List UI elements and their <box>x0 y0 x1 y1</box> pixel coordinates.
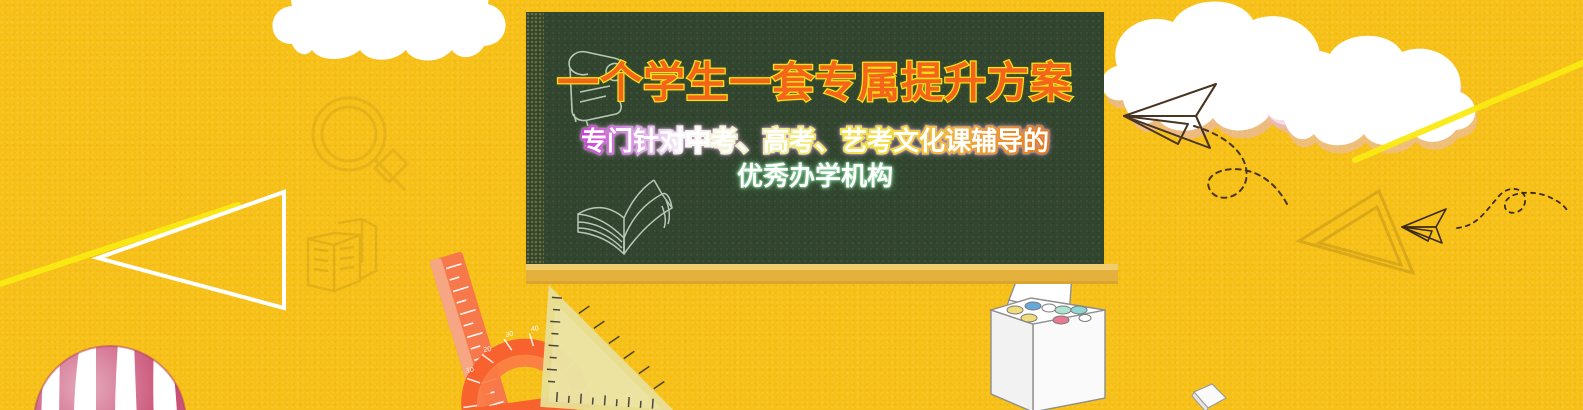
blackboard-chalk-edge <box>526 12 544 264</box>
books-icon <box>300 215 380 295</box>
dashed-trail <box>1192 112 1312 210</box>
striped-ball <box>30 342 190 410</box>
dashed-trail <box>1455 182 1570 252</box>
cloud-icon <box>262 0 518 98</box>
svg-text:20: 20 <box>483 346 492 354</box>
svg-text:30: 30 <box>505 331 514 339</box>
magnifier-icon <box>305 90 410 195</box>
triangle-outline-icon <box>88 180 308 320</box>
svg-text:10: 10 <box>466 367 475 375</box>
promo-banner: 1020 3040 50 <box>0 0 1583 410</box>
open-book-chalk-drawing <box>566 166 684 258</box>
svg-text:40: 40 <box>531 325 540 333</box>
paper-plane-icon <box>1400 205 1460 247</box>
blackboard-ledge <box>526 264 1118 284</box>
chalk-stick <box>1190 382 1230 410</box>
yellow-streak <box>1355 58 1583 168</box>
notebook-chalk-drawing <box>556 44 632 128</box>
